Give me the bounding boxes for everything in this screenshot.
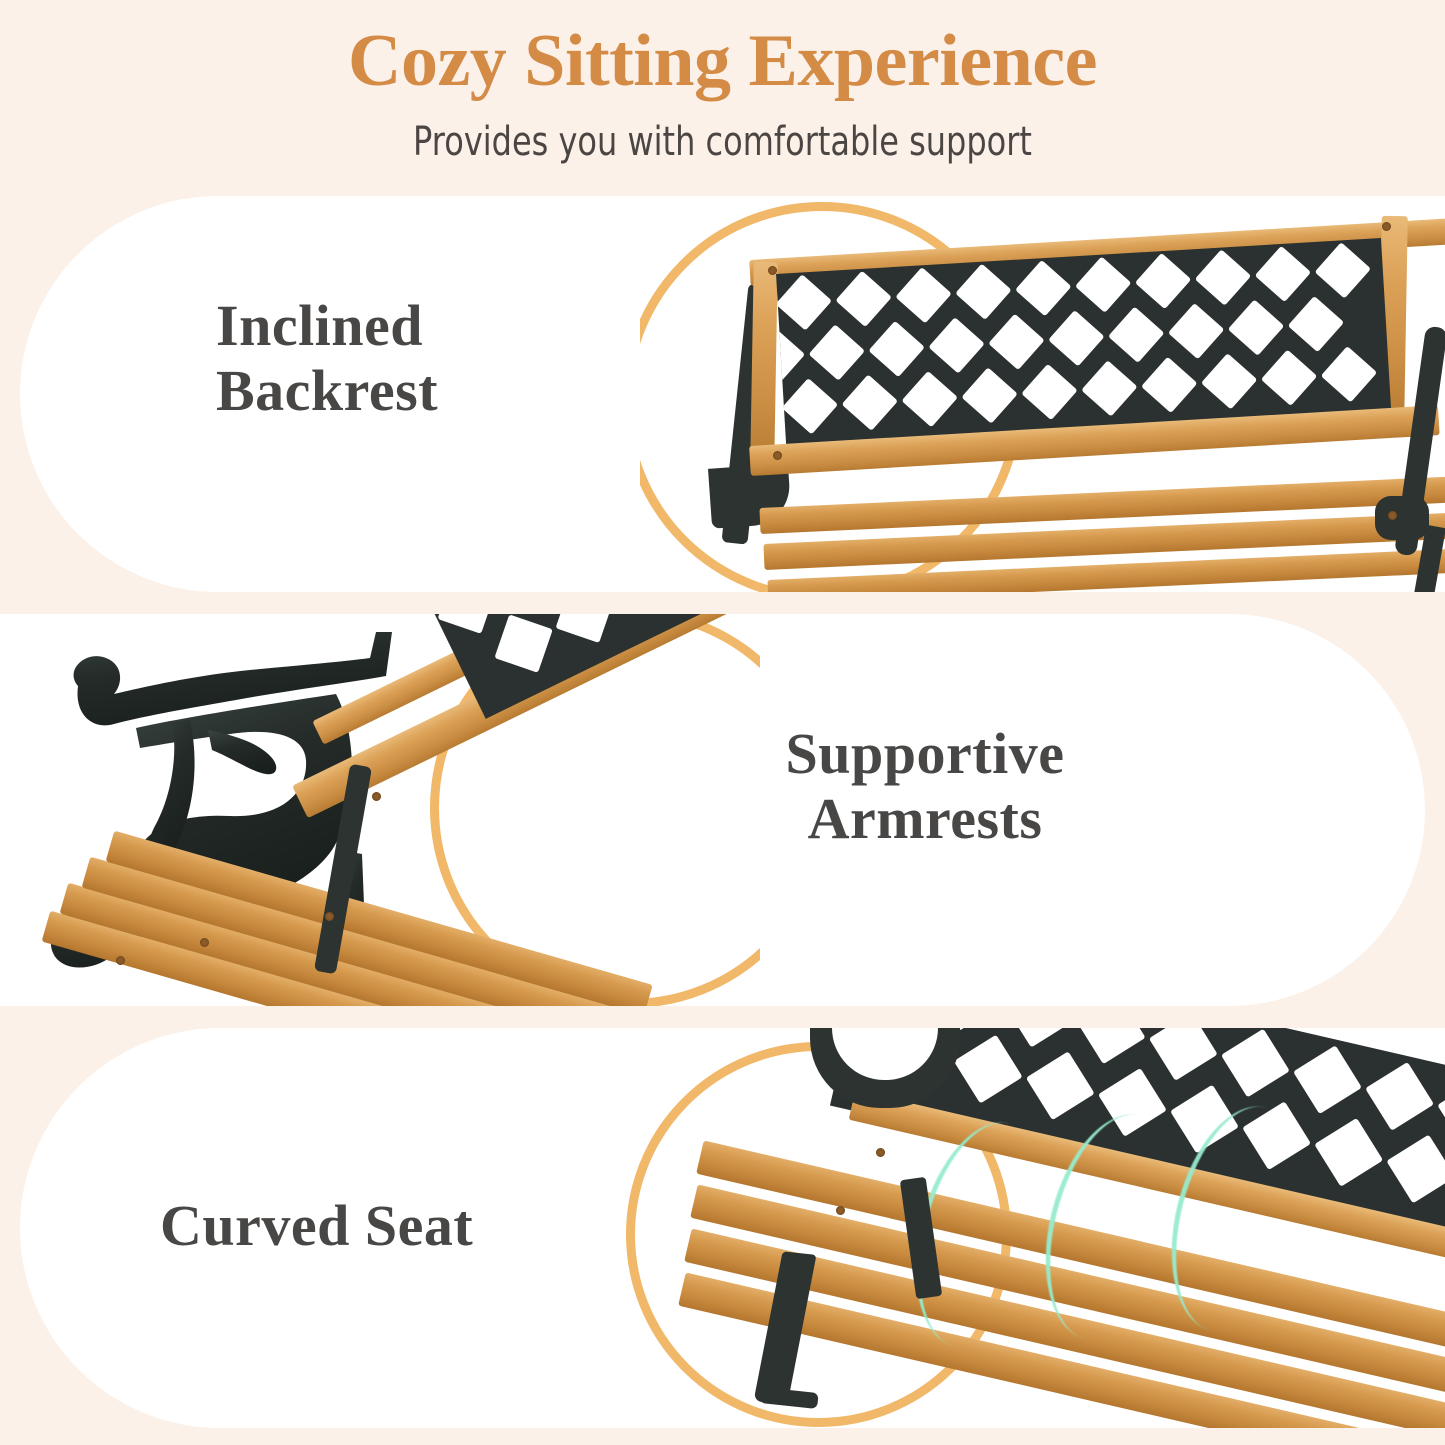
screw-icon [836, 1206, 845, 1215]
feature-label-line: Curved Seat [160, 1194, 640, 1259]
feature-photo-supportive-armrests [0, 614, 760, 1006]
backrest-stile-left [750, 262, 777, 462]
infographic-canvas: Cozy Sitting Experience Provides you wit… [0, 0, 1445, 1445]
screw-icon [372, 792, 381, 801]
screw-icon [768, 266, 777, 275]
feature-label-line: Backrest [216, 359, 636, 424]
feature-label-inclined-backrest: Inclined Backrest [216, 294, 636, 424]
feature-label-supportive-armrests: Supportive Armrests [690, 722, 1160, 852]
feature-panel-inclined-backrest: Inclined Backrest [20, 196, 1445, 592]
feature-panel-curved-seat: Curved Seat [20, 1028, 1445, 1428]
page-title: Cozy Sitting Experience [0, 24, 1445, 98]
screw-icon [876, 1148, 885, 1157]
screw-icon [325, 912, 334, 921]
feature-label-curved-seat: Curved Seat [160, 1194, 640, 1259]
feature-panel-supportive-armrests: Supportive Armrests [0, 614, 1425, 1006]
feature-label-line: Supportive [690, 722, 1160, 787]
header: Cozy Sitting Experience Provides you wit… [0, 0, 1445, 186]
feature-label-line: Inclined [216, 294, 636, 359]
page-subtitle: Provides you with comfortable support [145, 120, 1301, 164]
screw-icon [1382, 222, 1391, 231]
feature-photo-curved-seat [620, 1028, 1445, 1428]
armrest-knob-right [1375, 496, 1429, 540]
screw-icon [773, 451, 782, 460]
screw-icon [116, 956, 125, 965]
feature-label-line: Armrests [690, 787, 1160, 852]
screw-icon [200, 938, 209, 947]
screw-icon [1388, 511, 1397, 520]
feature-photo-inclined-backrest [640, 196, 1445, 592]
